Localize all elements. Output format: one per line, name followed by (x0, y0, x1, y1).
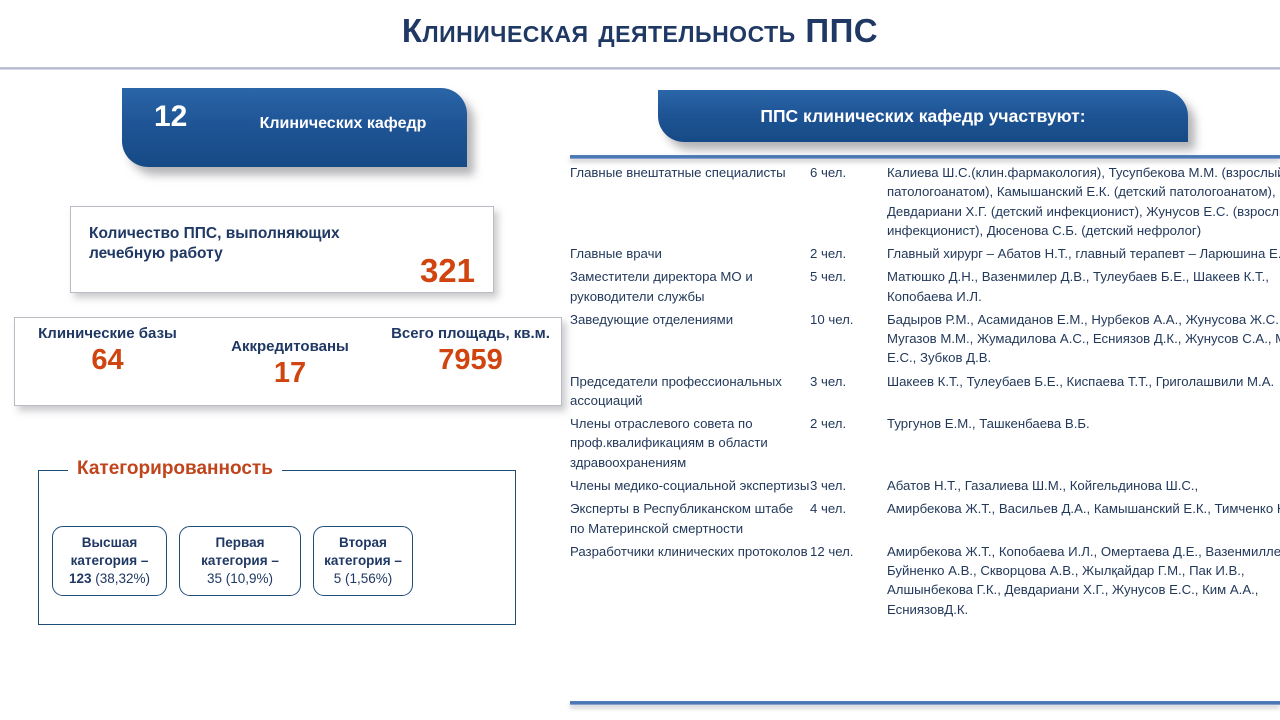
row-role: Заместители директора МО и руководители … (570, 267, 810, 310)
table-row: Члены медико-социальной экспертизы3 чел.… (570, 476, 1280, 499)
participation-table: Главные внештатные специалисты6 чел.Кали… (570, 163, 1280, 623)
clinical-stats-card: Клинические базы 64 Аккредитованы 17 Все… (14, 317, 562, 406)
stat-total-area: Всего площадь, кв.м. 7959 (380, 318, 561, 405)
row-count: 6 чел. (810, 163, 887, 244)
participation-banner-label: ППС клинических кафедр участвуют: (658, 90, 1188, 142)
clinical-departments-banner: 12 Клинических кафедр (122, 88, 467, 167)
categorization-legend: Категорированность (68, 457, 282, 481)
row-names: Матюшко Д.Н., Вазенмилер Д.В., Тулеубаев… (887, 267, 1280, 310)
table-bottom-rule (570, 701, 1280, 705)
pps-medical-work-card: Количество ППС, выполняющих лечебную раб… (70, 206, 494, 293)
table-row: Члены отраслевого совета по проф.квалифи… (570, 414, 1280, 476)
stat-clinical-bases-caption: Клинические базы (15, 325, 200, 343)
category-highest-percent: (38,32%) (92, 571, 151, 586)
row-count: 5 чел. (810, 267, 887, 310)
row-role: Председатели профессиональных ассоциаций (570, 372, 810, 415)
categorization-items: Высшая категория – 123 (38,32%) Первая к… (52, 526, 413, 596)
row-names: Тургунов Е.М., Ташкенбаева В.Б. (887, 414, 1280, 476)
row-count: 12 чел. (810, 542, 887, 623)
category-first: Первая категория – 35 (10,9%) (179, 526, 301, 596)
row-role: Члены медико-социальной экспертизы (570, 476, 810, 499)
row-count: 3 чел. (810, 372, 887, 415)
category-highest-value: 123 (38,32%) (59, 570, 160, 588)
category-highest-title: Высшая категория – (59, 534, 160, 569)
category-first-value: 35 (10,9%) (186, 570, 294, 588)
clinical-departments-count: 12 (154, 102, 187, 132)
stat-total-area-value: 7959 (380, 344, 561, 377)
title-divider (0, 67, 1280, 70)
row-names: Абатов Н.Т., Газалиева Ш.М., Койгельдино… (887, 476, 1280, 499)
row-names: Шакеев К.Т., Тулеубаев Б.Е., Киспаева Т.… (887, 372, 1280, 415)
category-second: Вторая категория – 5 (1,56%) (313, 526, 413, 596)
pps-medical-work-value: 321 (420, 253, 475, 289)
stat-accredited: Аккредитованы 17 (200, 318, 380, 405)
row-names: Калиева Ш.С.(клин.фармакология), Тусупбе… (887, 163, 1280, 244)
table-row: Эксперты в Республиканском штабе по Мате… (570, 499, 1280, 542)
slide-root: Клиническая деятельность ППС 12 Клиничес… (0, 0, 1280, 720)
row-count: 10 чел. (810, 310, 887, 372)
page-title: Клиническая деятельность ППС (0, 12, 1280, 50)
table-row: Главные внештатные специалисты6 чел.Кали… (570, 163, 1280, 244)
category-second-value: 5 (1,56%) (320, 570, 406, 588)
category-highest: Высшая категория – 123 (38,32%) (52, 526, 167, 596)
participation-table-body: Главные внештатные специалисты6 чел.Кали… (570, 163, 1280, 623)
row-count: 2 чел. (810, 414, 887, 476)
table-row: Заместители директора МО и руководители … (570, 267, 1280, 310)
row-count: 3 чел. (810, 476, 887, 499)
row-role: Эксперты в Республиканском штабе по Мате… (570, 499, 810, 542)
table-row: Главные врачи2 чел.Главный хирург – Абат… (570, 244, 1280, 267)
row-role: Разработчики клинических протоколов (570, 542, 810, 623)
participation-banner: ППС клинических кафедр участвуют: (658, 90, 1188, 142)
row-count: 2 чел. (810, 244, 887, 267)
participation-table-wrapper: Главные внештатные специалисты6 чел.Кали… (570, 163, 1280, 699)
stat-clinical-bases-value: 64 (15, 344, 200, 377)
stat-accredited-caption: Аккредитованы (200, 338, 380, 356)
row-role: Главные врачи (570, 244, 810, 267)
pps-medical-work-caption: Количество ППС, выполняющих лечебную раб… (89, 224, 419, 265)
clinical-departments-label: Клинических кафедр (230, 114, 456, 133)
category-highest-number: 123 (69, 571, 92, 586)
table-row: Председатели профессиональных ассоциаций… (570, 372, 1280, 415)
category-second-title: Вторая категория – (320, 534, 406, 569)
row-names: Амирбекова Ж.Т., Копобаева И.Л., Омертае… (887, 542, 1280, 623)
category-first-title: Первая категория – (186, 534, 294, 569)
row-names: Бадыров Р.М., Асамиданов Е.М., Нурбеков … (887, 310, 1280, 372)
row-role: Главные внештатные специалисты (570, 163, 810, 244)
stat-clinical-bases: Клинические базы 64 (15, 318, 200, 405)
row-role: Члены отраслевого совета по проф.квалифи… (570, 414, 810, 476)
stat-total-area-caption: Всего площадь, кв.м. (380, 325, 561, 343)
clinical-stats-row: Клинические базы 64 Аккредитованы 17 Все… (15, 318, 561, 405)
table-row: Заведующие отделениями10 чел.Бадыров Р.М… (570, 310, 1280, 372)
stat-accredited-value: 17 (200, 357, 380, 390)
table-top-rule (570, 155, 1280, 159)
row-count: 4 чел. (810, 499, 887, 542)
row-role: Заведующие отделениями (570, 310, 810, 372)
row-names: Амирбекова Ж.Т., Васильев Д.А., Камышанс… (887, 499, 1280, 542)
table-row: Разработчики клинических протоколов12 че… (570, 542, 1280, 623)
row-names: Главный хирург – Абатов Н.Т., главный те… (887, 244, 1280, 267)
